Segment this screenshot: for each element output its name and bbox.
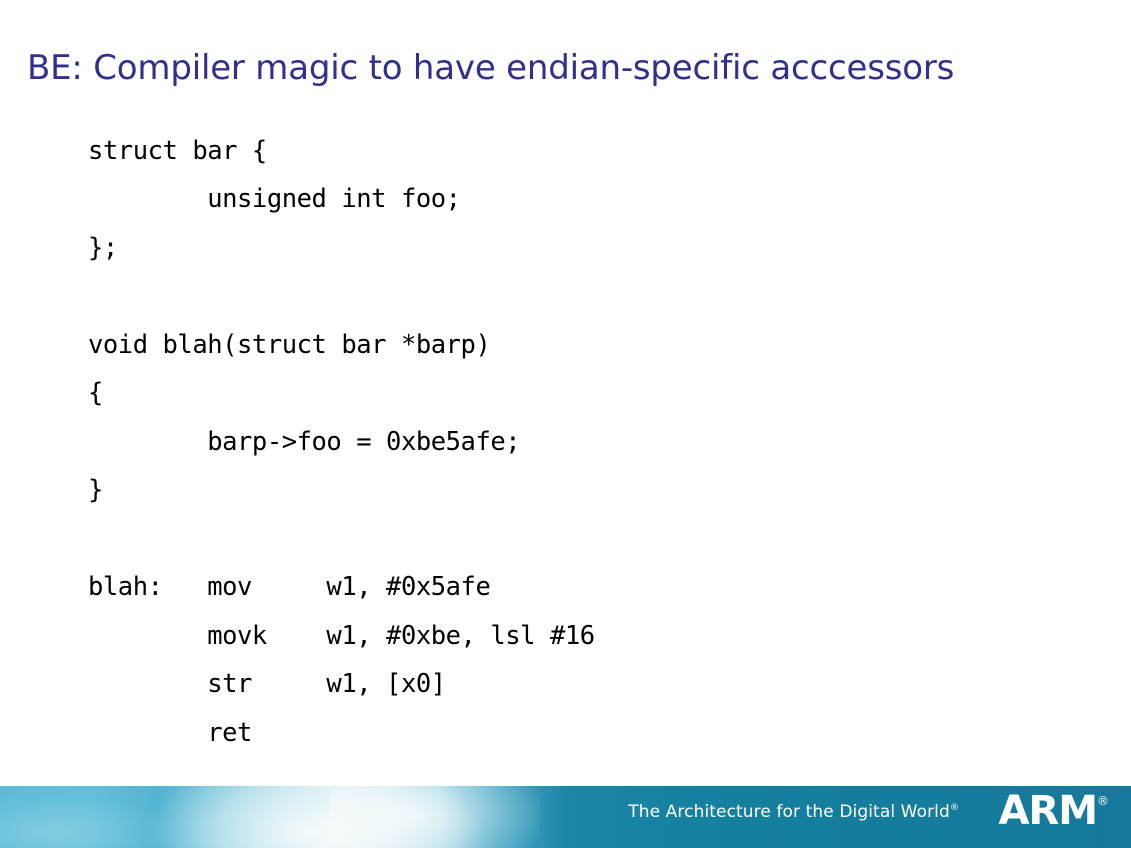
- registered-mark: ®: [1097, 794, 1109, 808]
- code-line: }: [88, 466, 1068, 515]
- code-line: str w1, [x0]: [88, 660, 1068, 709]
- cloud-texture-icon: [330, 786, 540, 848]
- slide-canvas: BE: Compiler magic to have endian-specif…: [0, 0, 1131, 848]
- code-line: blah: mov w1, #0x5afe: [88, 563, 1068, 612]
- footer-tagline-text: The Architecture for the Digital World: [628, 802, 950, 822]
- footer-band: The Architecture for the Digital World® …: [0, 786, 1131, 848]
- code-line: movk w1, #0xbe, lsl #16: [88, 612, 1068, 661]
- code-line: void blah(struct bar *barp): [88, 321, 1068, 370]
- registered-mark: ®: [950, 803, 959, 813]
- page-title: BE: Compiler magic to have endian-specif…: [27, 48, 1097, 88]
- code-line: struct bar {: [88, 127, 1068, 176]
- code-line: };: [88, 224, 1068, 273]
- code-line: [88, 272, 1068, 321]
- code-line: [88, 515, 1068, 564]
- cloud-texture-icon: [0, 792, 180, 848]
- code-line: {: [88, 369, 1068, 418]
- cloud-texture-icon: [150, 786, 480, 848]
- arm-logo: ARM®: [998, 788, 1109, 834]
- code-line: unsigned int foo;: [88, 175, 1068, 224]
- footer-tagline: The Architecture for the Digital World®: [628, 802, 959, 822]
- code-line: barp->foo = 0xbe5afe;: [88, 418, 1068, 467]
- code-line: ret: [88, 709, 1068, 758]
- code-block: struct bar { unsigned int foo;}; void bl…: [88, 127, 1068, 758]
- arm-logo-text: ARM: [998, 788, 1097, 834]
